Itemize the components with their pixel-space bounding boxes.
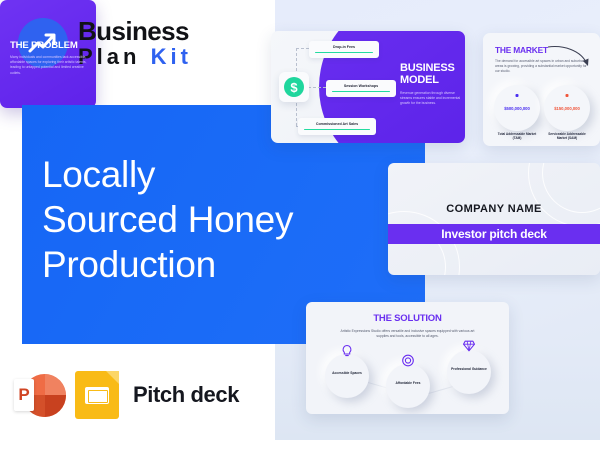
problem-title: THE PROBLEM bbox=[10, 40, 78, 51]
brand-kit-text: Kit bbox=[151, 44, 192, 69]
sam-dot-icon bbox=[566, 94, 569, 97]
solution-item-professional-guidance[interactable]: Professional Guidance bbox=[447, 350, 491, 394]
solution-description: Artistic Expressions Studio offers versa… bbox=[336, 329, 479, 339]
solution-title: THE SOLUTION bbox=[306, 313, 509, 324]
powerpoint-sheet: P bbox=[14, 379, 34, 411]
powerpoint-letter: P bbox=[18, 385, 29, 405]
bm-node-label: Commissioned Art Sales bbox=[304, 122, 370, 126]
solution-item-label: Affordable Fees bbox=[386, 381, 430, 386]
bm-node-label: Session Workshops bbox=[332, 84, 390, 88]
google-slides-icon[interactable] bbox=[75, 371, 119, 419]
bm-node-label: Drop-in Fees bbox=[315, 45, 373, 49]
market-metric-tam: $500,000,000 bbox=[494, 85, 540, 131]
solution-item-accessible-spaces[interactable]: Accessible Spaces bbox=[325, 354, 369, 398]
curved-arrow-icon bbox=[547, 43, 593, 71]
lightbulb-icon bbox=[341, 344, 353, 358]
bm-node-drop-in-fees[interactable]: Drop-in Fees bbox=[309, 41, 379, 58]
bm-connector-top bbox=[296, 48, 309, 49]
business-model-title-line2: MODEL bbox=[400, 74, 466, 86]
bm-node-commissioned-art-sales[interactable]: Commissioned Art Sales bbox=[298, 118, 376, 135]
hero-title: Locally Sourced Honey Production bbox=[42, 152, 382, 287]
decor-ring bbox=[528, 163, 600, 227]
slide-card-solution[interactable]: THE SOLUTION Artistic Expressions Studio… bbox=[306, 302, 509, 414]
problem-description: Many individuals and communities lack ac… bbox=[10, 55, 92, 76]
bm-connector-middle bbox=[308, 87, 326, 88]
hero-title-line3: Production bbox=[42, 242, 382, 287]
business-model-title-line1: BUSINESS bbox=[400, 62, 466, 74]
bm-node-bar bbox=[315, 52, 373, 53]
solution-item-label: Accessible Spaces bbox=[325, 371, 369, 376]
slide-card-market[interactable]: THE MARKET The demand for accessible art… bbox=[483, 33, 600, 146]
tam-value: $500,000,000 bbox=[494, 106, 540, 111]
pitch-deck-label: Pitch deck bbox=[133, 382, 239, 408]
format-icons-row: P Pitch deck bbox=[14, 371, 239, 419]
sam-caption: Serviceable Addressable Market (SAM) bbox=[544, 132, 590, 141]
brand-name-line2: Plan Kit bbox=[78, 46, 192, 68]
brand-name-line1: Business bbox=[78, 18, 192, 44]
diamond-icon bbox=[463, 340, 476, 352]
dollar-icon: $ bbox=[284, 77, 304, 97]
tam-dot-icon bbox=[516, 94, 519, 97]
hero-title-line2: Sourced Honey bbox=[42, 197, 382, 242]
market-title: THE MARKET bbox=[495, 45, 548, 55]
business-model-text-block: BUSINESS MODEL Revenue generation throug… bbox=[400, 62, 466, 107]
powerpoint-quadrant bbox=[45, 395, 67, 417]
powerpoint-quadrant bbox=[45, 374, 67, 396]
company-name-text: COMPANY NAME bbox=[388, 203, 600, 215]
investor-pitch-deck-text: Investor pitch deck bbox=[441, 227, 547, 241]
poster-canvas: Business Plan Kit Locally Sourced Honey … bbox=[0, 0, 600, 449]
business-model-description: Revenue generation through diverse strea… bbox=[400, 91, 466, 107]
bm-node-bar bbox=[304, 129, 370, 130]
investor-pitch-deck-banner: Investor pitch deck bbox=[388, 224, 600, 244]
circle-target-icon bbox=[402, 354, 415, 367]
market-metric-sam: $150,000,000 bbox=[544, 85, 590, 131]
solution-item-affordable-fees[interactable]: Affordable Fees bbox=[386, 364, 430, 408]
powerpoint-icon[interactable]: P bbox=[14, 372, 61, 419]
hero-title-line1: Locally bbox=[42, 152, 382, 197]
slides-screen-inner bbox=[88, 390, 108, 403]
tam-caption: Total Addressable Market (TAM) bbox=[494, 132, 540, 141]
slides-screen bbox=[85, 387, 109, 404]
bm-node-session-workshops[interactable]: Session Workshops bbox=[326, 80, 396, 97]
slide-card-company-name[interactable]: COMPANY NAME Investor pitch deck bbox=[388, 163, 600, 275]
sam-value: $150,000,000 bbox=[544, 106, 590, 111]
bm-dollar-node: $ bbox=[279, 72, 309, 102]
bm-node-bar bbox=[332, 91, 390, 92]
solution-item-label: Professional Guidance bbox=[447, 367, 491, 372]
